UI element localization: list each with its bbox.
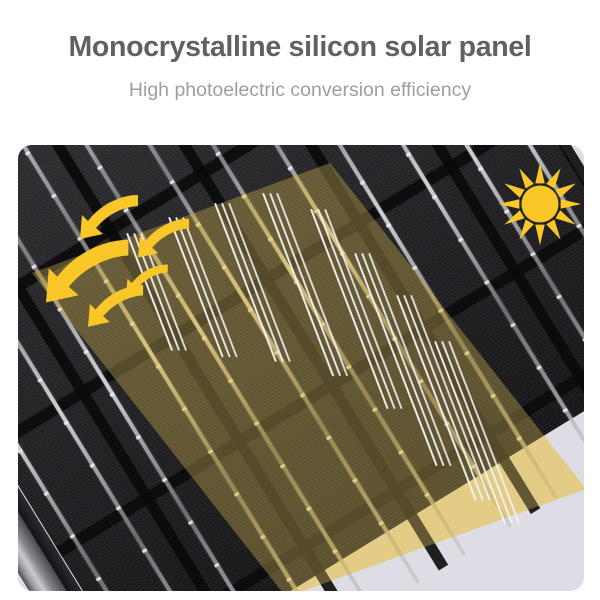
product-feature-page: Monocrystalline silicon solar panel High… — [0, 0, 600, 600]
light-arrow-icon — [138, 217, 191, 259]
header: Monocrystalline silicon solar panel High… — [0, 0, 600, 100]
light-arrow-icon — [80, 193, 140, 241]
light-ray-arrows — [18, 145, 584, 591]
light-arrow-icon — [88, 283, 145, 329]
product-image-card — [18, 145, 584, 591]
page-title: Monocrystalline silicon solar panel — [0, 0, 600, 62]
page-subtitle: High photoelectric conversion efficiency — [0, 62, 600, 101]
